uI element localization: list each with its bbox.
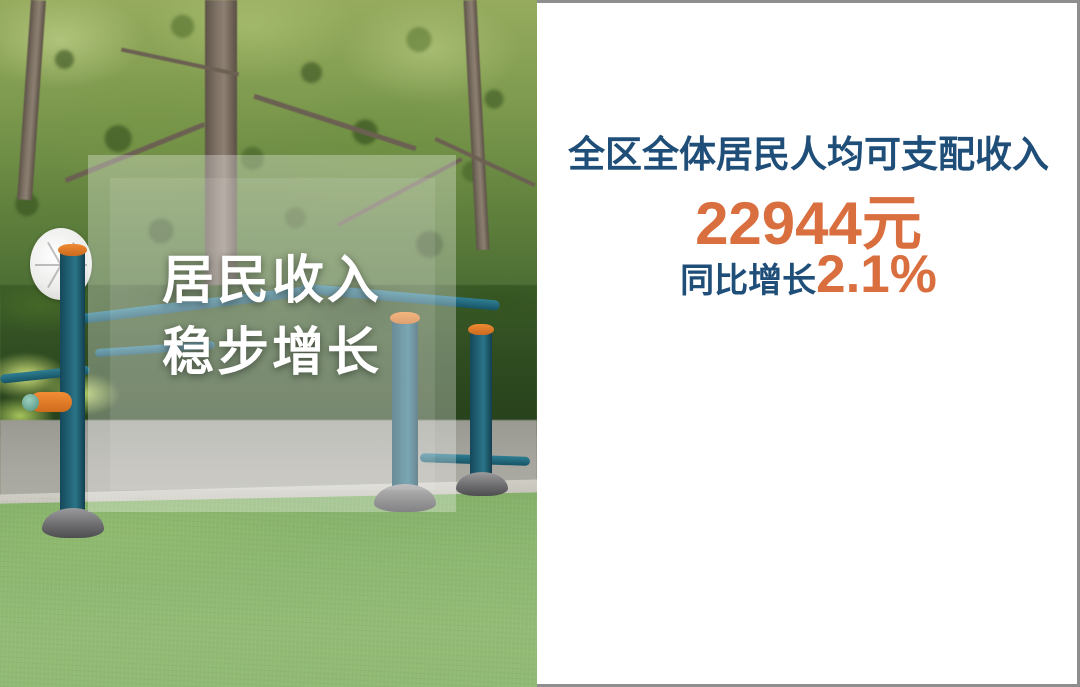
- fitness-post: [60, 250, 85, 525]
- growth-value: 2.1%: [816, 245, 937, 304]
- grip-knob: [22, 394, 39, 411]
- growth-label: 同比增长: [680, 262, 816, 300]
- fitness-post: [470, 330, 492, 485]
- growth-line: 同比增长2.1%: [537, 248, 1080, 301]
- post-cap: [58, 244, 87, 256]
- park-photo: 居民收入 稳步增长: [0, 0, 537, 687]
- infographic-slide: 居民收入 稳步增长 全区全体居民人均可支配收入 22944元 同比增长2.1% …: [0, 0, 1080, 687]
- disc-spoke: [35, 264, 61, 266]
- panel-headline: 全区全体居民人均可支配收入: [537, 124, 1080, 178]
- panel-border-top: [537, 0, 1080, 3]
- post-cap: [468, 324, 494, 335]
- photo-overlay-title: 居民收入 稳步增长: [88, 246, 456, 390]
- stats-panel: 全区全体居民人均可支配收入 22944元 同比增长2.1% 城镇居民人均可支配收…: [537, 0, 1080, 687]
- photo-title-line-1: 居民收入: [88, 246, 456, 318]
- photo-title-line-2: 稳步增长: [88, 318, 456, 390]
